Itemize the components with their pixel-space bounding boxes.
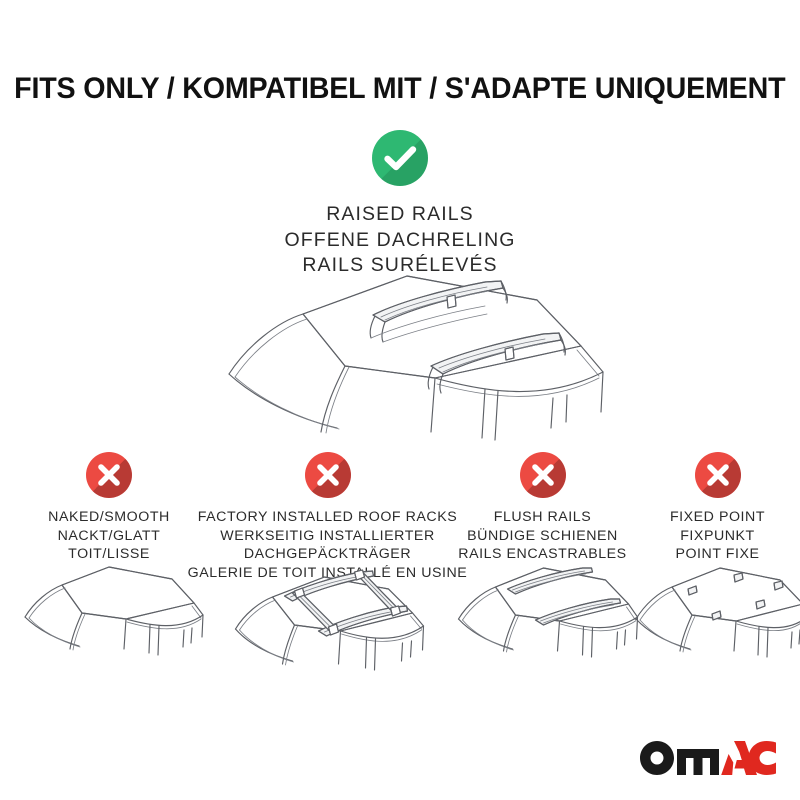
x-circle-icon <box>520 452 566 498</box>
roof-raised-rails-drawing <box>185 262 625 452</box>
check-glyph <box>372 130 428 186</box>
rejected-label-de: BÜNDIGE SCHIENEN <box>458 527 626 546</box>
car-roof-with-factory-crossbars-illustration <box>220 555 435 695</box>
omac-logo <box>640 738 776 778</box>
page-title: FITS ONLY / KOMPATIBEL MIT / S'ADAPTE UN… <box>14 74 785 104</box>
rejected-section: NAKED/SMOOTH NACKT/GLATT TOIT/LISSE <box>0 452 800 702</box>
x-glyph <box>86 452 132 498</box>
x-circle-icon <box>305 452 351 498</box>
rejected-labels: FLUSH RAILS BÜNDIGE SCHIENEN RAILS ENCAS… <box>458 508 626 564</box>
x-circle-icon <box>695 452 741 498</box>
check-circle-icon <box>372 130 428 186</box>
rejected-labels: NAKED/SMOOTH NACKT/GLATT TOIT/LISSE <box>48 508 170 564</box>
logo-letter-m <box>677 749 719 775</box>
approved-label-en: RAISED RAILS <box>284 202 515 228</box>
logo-letter-o <box>640 741 674 775</box>
rejected-label-de: NACKT/GLATT <box>48 527 170 546</box>
rejected-item-flush-rails: FLUSH RAILS BÜNDIGE SCHIENEN RAILS ENCAS… <box>450 452 635 564</box>
omac-wordmark <box>640 741 776 775</box>
approved-section: RAISED RAILS OFFENE DACHRELING RAILS SUR… <box>0 130 800 279</box>
x-glyph <box>695 452 741 498</box>
approved-label-de: OFFENE DACHRELING <box>284 228 515 254</box>
roof-crossbars-drawing <box>220 555 435 695</box>
rejected-label-en: FACTORY INSTALLED ROOF RACKS <box>188 508 468 527</box>
x-glyph <box>305 452 351 498</box>
rejected-label-en: NAKED/SMOOTH <box>48 508 170 527</box>
car-roof-with-flush-rails-illustration <box>445 557 640 692</box>
car-roof-with-fixed-points-illustration <box>628 557 800 692</box>
roof-fixed-point-drawing <box>628 557 800 692</box>
rejected-item-fixed-point: FIXED POINT FIXPUNKT POINT FIXE <box>635 452 800 564</box>
rejected-label-de: FIXPUNKT <box>670 527 765 546</box>
roof-naked-drawing <box>14 557 204 692</box>
header-banner: FITS ONLY / KOMPATIBEL MIT / S'ADAPTE UN… <box>0 0 800 104</box>
rejected-label-de-1: WERKSEITIG INSTALLIERTER <box>188 527 468 546</box>
x-circle-icon <box>86 452 132 498</box>
x-glyph <box>520 452 566 498</box>
rejected-item-naked-smooth: NAKED/SMOOTH NACKT/GLATT TOIT/LISSE <box>14 452 204 564</box>
rejected-label-en: FIXED POINT <box>670 508 765 527</box>
car-roof-with-raised-rails-illustration <box>185 262 625 452</box>
rejected-labels: FIXED POINT FIXPUNKT POINT FIXE <box>670 508 765 564</box>
car-roof-naked-smooth-illustration <box>14 557 204 692</box>
rejected-label-en: FLUSH RAILS <box>458 508 626 527</box>
roof-flush-rails-drawing <box>445 557 640 692</box>
rejected-item-factory-roof-racks: FACTORY INSTALLED ROOF RACKS WERKSEITIG … <box>205 452 450 583</box>
